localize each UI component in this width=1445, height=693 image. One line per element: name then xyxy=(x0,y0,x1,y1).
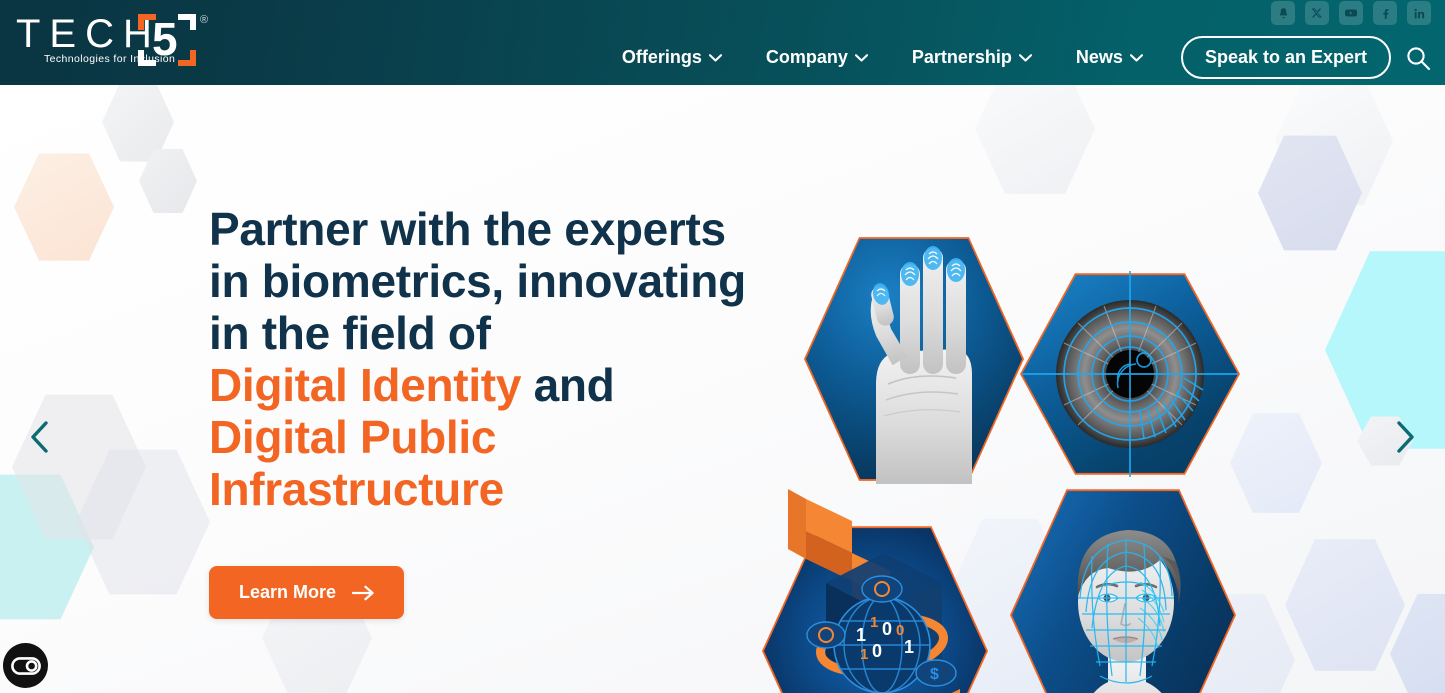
nav-item-news[interactable]: News xyxy=(1054,47,1165,68)
chevron-down-icon xyxy=(855,54,868,62)
svg-text:0: 0 xyxy=(882,619,892,639)
nav-item-offerings[interactable]: Offerings xyxy=(600,47,744,68)
svg-text:0: 0 xyxy=(872,641,882,661)
cookiebot-icon xyxy=(11,657,41,675)
decorative-hexagon xyxy=(1230,410,1322,516)
iris-scan-hexagon xyxy=(1022,271,1238,477)
headline-line-3: in the field of xyxy=(209,307,789,359)
cookie-consent-button[interactable] xyxy=(3,643,48,688)
registered-trademark-icon: ® xyxy=(200,14,208,26)
svg-text:$: $ xyxy=(930,666,939,683)
headline-accent-1: Digital Identity xyxy=(209,359,521,411)
logo-five-mark: 5 xyxy=(138,12,198,68)
svg-text:1: 1 xyxy=(860,646,868,663)
digital-infrastructure-hexagon: 10 01 101 $ xyxy=(764,523,986,693)
decorative-hexagon xyxy=(76,445,210,599)
nav-label: Offerings xyxy=(622,47,702,68)
site-logo[interactable]: TECH Technologies for Inclusion 5 ® xyxy=(14,8,214,68)
decorative-hexagon xyxy=(1258,132,1362,254)
decorative-hexagon xyxy=(975,85,1095,198)
linkedin-icon[interactable] xyxy=(1407,1,1431,25)
facebook-icon[interactable] xyxy=(1373,1,1397,25)
headline-accent-2: Digital Public xyxy=(209,411,789,463)
decorative-hexagon xyxy=(14,150,114,264)
logo-digit: 5 xyxy=(152,16,178,62)
x-twitter-icon[interactable] xyxy=(1305,1,1329,25)
decorative-hexagon xyxy=(102,85,212,133)
bracket-bottom-right xyxy=(178,50,196,66)
carousel-prev-button[interactable] xyxy=(18,415,62,459)
chevron-left-icon xyxy=(28,420,52,454)
nav-item-partnership[interactable]: Partnership xyxy=(890,47,1054,68)
hand-fingerprint-hexagon xyxy=(806,234,1022,484)
decorative-hexagon xyxy=(1390,590,1445,693)
chevron-down-icon xyxy=(1130,54,1143,62)
main-navigation: Offerings Company Partnership News Speak… xyxy=(600,36,1431,79)
hero-section: Partner with the experts in biometrics, … xyxy=(0,85,1445,693)
learn-more-label: Learn More xyxy=(239,582,336,603)
carousel-next-button[interactable] xyxy=(1383,415,1427,459)
headline-accent-3: Infrastructure xyxy=(209,463,789,515)
hero-headline: Partner with the experts in biometrics, … xyxy=(209,203,789,515)
speak-to-expert-button[interactable]: Speak to an Expert xyxy=(1181,36,1391,79)
svg-text:0: 0 xyxy=(896,622,904,639)
nav-label: Partnership xyxy=(912,47,1012,68)
nav-label: Company xyxy=(766,47,848,68)
youtube-icon[interactable] xyxy=(1339,1,1363,25)
chevron-down-icon xyxy=(1019,54,1032,62)
nav-item-company[interactable]: Company xyxy=(744,47,890,68)
svg-text:1: 1 xyxy=(870,614,878,631)
face-recognition-hexagon xyxy=(1012,486,1234,693)
chevron-right-icon xyxy=(1393,420,1417,454)
bell-icon[interactable] xyxy=(1271,1,1295,25)
search-icon[interactable] xyxy=(1405,45,1431,71)
decorative-hexagon xyxy=(139,147,197,215)
headline-line-2: in biometrics, innovating xyxy=(209,255,789,307)
chevron-down-icon xyxy=(709,54,722,62)
learn-more-button[interactable]: Learn More xyxy=(209,566,404,619)
nav-label: News xyxy=(1076,47,1123,68)
svg-text:1: 1 xyxy=(904,637,914,657)
headline-line-4: Digital Identity and xyxy=(209,359,789,411)
headline-line-1: Partner with the experts xyxy=(209,203,789,255)
arrow-right-icon xyxy=(352,585,374,601)
headline-conjunction: and xyxy=(521,359,614,411)
site-header: TECH Technologies for Inclusion 5 ® Offe… xyxy=(0,0,1445,85)
decorative-hexagon xyxy=(1285,535,1405,675)
social-links-bar xyxy=(1271,0,1431,26)
svg-text:1: 1 xyxy=(856,625,866,645)
bracket-top-right xyxy=(178,14,196,30)
